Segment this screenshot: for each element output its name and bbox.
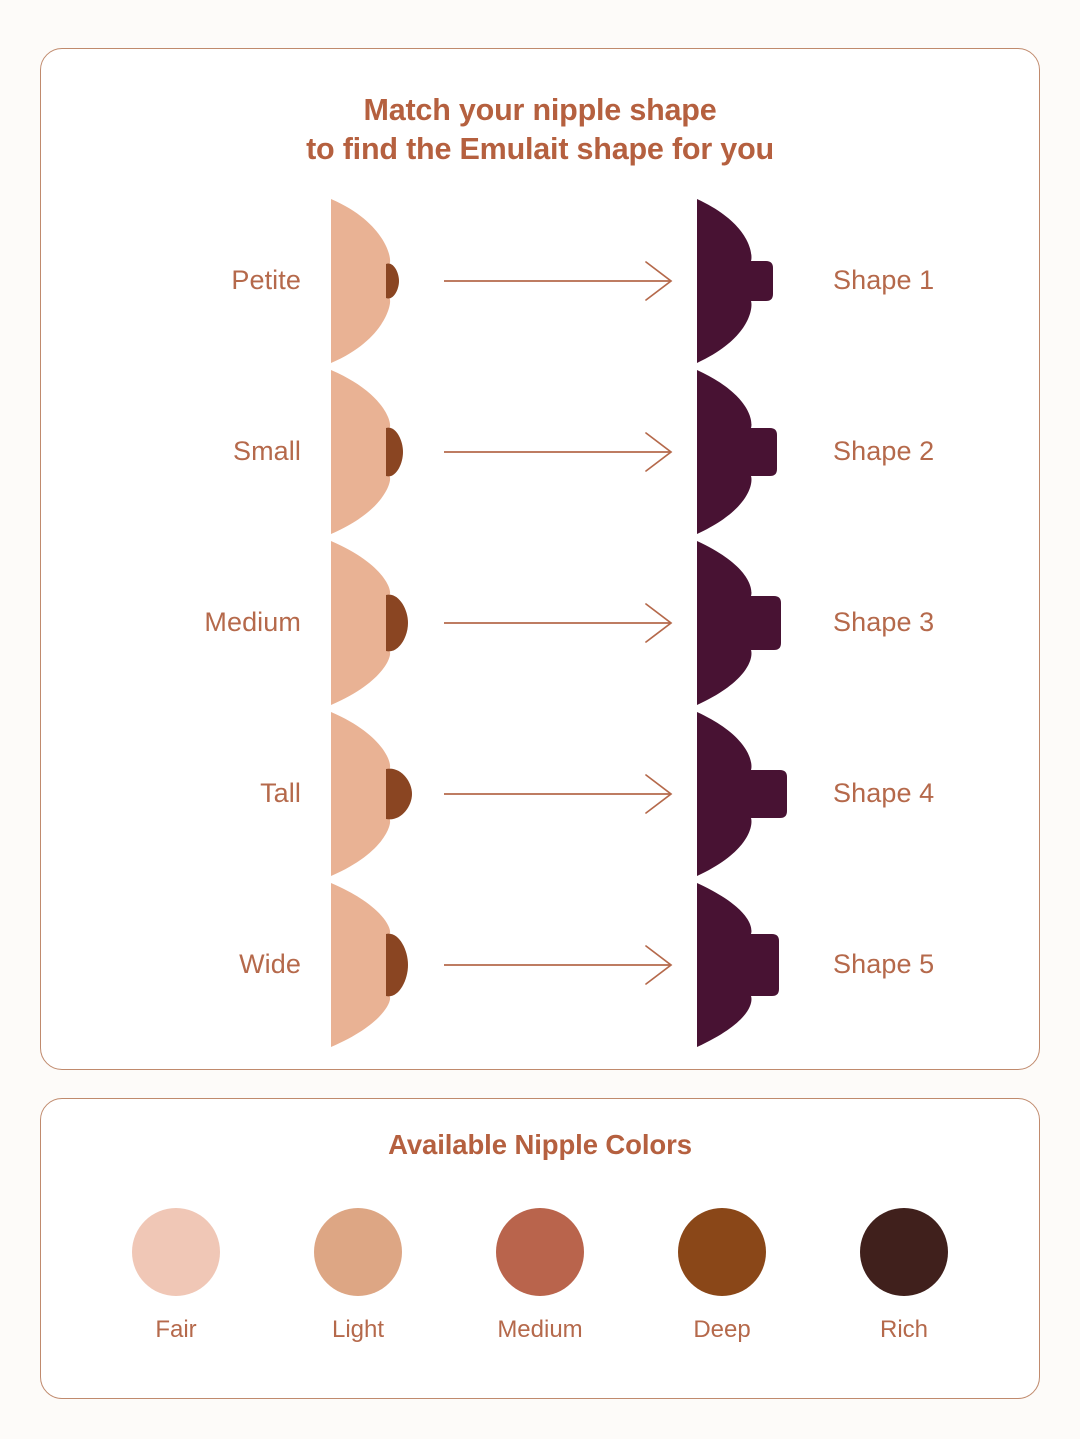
color-swatch[interactable]: Deep [678, 1208, 766, 1344]
nipple-shape-label: Petite [69, 265, 327, 296]
emulait-shape-label: Shape 3 [799, 607, 1049, 638]
match-row: Medium Shape 3 [69, 537, 1011, 708]
color-swatch-label: Medium [497, 1316, 582, 1344]
match-arrow [431, 770, 691, 818]
match-arrow [431, 599, 691, 647]
emulait-shape-cell [691, 881, 799, 1049]
nipple-shape-illustration [327, 539, 423, 707]
colors-title: Available Nipple Colors [71, 1129, 1009, 1161]
color-swatch-label: Deep [693, 1316, 750, 1344]
color-swatch[interactable]: Medium [496, 1208, 584, 1344]
nipple-shape-cell [327, 539, 431, 707]
nipple-shape-label: Tall [69, 778, 327, 809]
nipple-shape-cell [327, 710, 431, 878]
nipple-shape-illustration [327, 710, 423, 878]
match-arrow [431, 941, 691, 989]
emulait-shape-illustration [693, 710, 789, 878]
emulait-shape-label: Shape 4 [799, 778, 1049, 809]
color-swatch-dot[interactable] [132, 1208, 220, 1296]
match-rows: Petite Shape 1Small Shape 2Medium [69, 191, 1011, 1050]
match-row: Petite Shape 1 [69, 195, 1011, 366]
nipple-shape-illustration [327, 197, 423, 365]
color-swatch-list: Fair Light Medium Deep Rich [71, 1187, 1009, 1372]
title-line-2: to find the Emulait shape for you [69, 130, 1011, 169]
emulait-shape-illustration [693, 197, 789, 365]
color-swatch-label: Light [332, 1316, 384, 1344]
match-row: Small Shape 2 [69, 366, 1011, 537]
nipple-shape-illustration [327, 368, 423, 536]
color-swatch-dot[interactable] [314, 1208, 402, 1296]
color-swatch[interactable]: Fair [132, 1208, 220, 1344]
emulait-shape-cell [691, 710, 799, 878]
nipple-shape-illustration [327, 881, 423, 1049]
emulait-shape-label: Shape 2 [799, 436, 1049, 467]
match-row: Wide Shape 5 [69, 879, 1011, 1050]
nipple-shape-label: Small [69, 436, 327, 467]
infographic-page: Match your nipple shape to find the Emul… [0, 0, 1080, 1439]
emulait-shape-cell [691, 539, 799, 707]
arrow-right-icon [442, 770, 680, 818]
color-swatch-dot[interactable] [496, 1208, 584, 1296]
color-swatch-label: Fair [155, 1316, 196, 1344]
available-colors-card: Available Nipple Colors Fair Light Mediu… [40, 1098, 1040, 1399]
nipple-shape-cell [327, 881, 431, 1049]
emulait-shape-cell [691, 368, 799, 536]
emulait-shape-cell [691, 197, 799, 365]
match-row: Tall Shape 4 [69, 708, 1011, 879]
color-swatch[interactable]: Rich [860, 1208, 948, 1344]
match-arrow [431, 428, 691, 476]
emulait-shape-illustration [693, 539, 789, 707]
arrow-right-icon [442, 428, 680, 476]
color-swatch-dot[interactable] [860, 1208, 948, 1296]
page-title: Match your nipple shape to find the Emul… [69, 91, 1011, 169]
color-swatch-label: Rich [880, 1316, 928, 1344]
arrow-right-icon [442, 257, 680, 305]
nipple-shape-label: Medium [69, 607, 327, 638]
match-arrow [431, 257, 691, 305]
nipple-shape-label: Wide [69, 949, 327, 980]
arrow-right-icon [442, 599, 680, 647]
nipple-shape-cell [327, 197, 431, 365]
color-swatch-dot[interactable] [678, 1208, 766, 1296]
color-swatch[interactable]: Light [314, 1208, 402, 1344]
emulait-shape-label: Shape 5 [799, 949, 1049, 980]
shape-match-card: Match your nipple shape to find the Emul… [40, 48, 1040, 1070]
emulait-shape-illustration [693, 881, 789, 1049]
arrow-right-icon [442, 941, 680, 989]
emulait-shape-label: Shape 1 [799, 265, 1049, 296]
nipple-shape-cell [327, 368, 431, 536]
emulait-shape-illustration [693, 368, 789, 536]
title-line-1: Match your nipple shape [69, 91, 1011, 130]
